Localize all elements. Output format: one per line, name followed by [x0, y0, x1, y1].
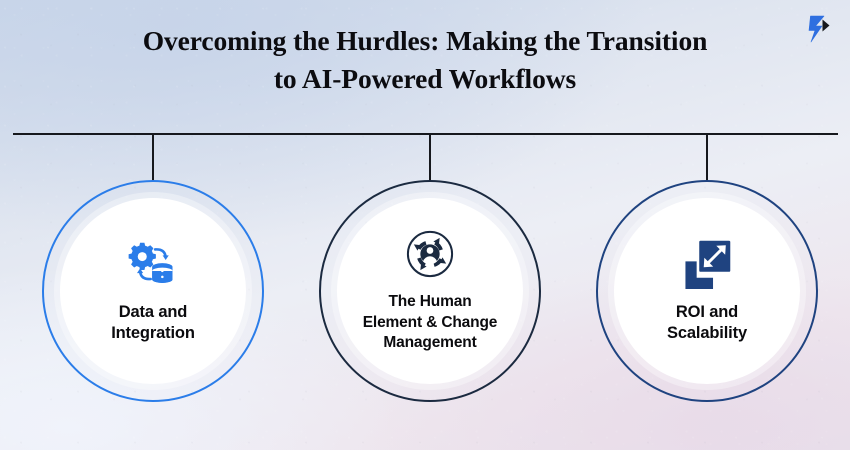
node-2-label-line-3: Management: [383, 334, 476, 351]
page-title: Overcoming the Hurdles: Making the Trans…: [0, 22, 850, 98]
connector-stem-2: [429, 133, 431, 181]
page-title-line-2: to AI-Powered Workflows: [60, 60, 790, 98]
connector-rail: [13, 133, 838, 135]
node-data-and-integration[interactable]: Data and Integration: [42, 180, 264, 402]
node-3-label-line-2: Scalability: [667, 324, 747, 342]
node-1-inner-disc: Data and Integration: [60, 198, 246, 384]
node-2-label-line-2: Element & Change: [363, 314, 498, 331]
node-2-label: The Human Element & Change Management: [346, 292, 514, 354]
infographic-canvas: Overcoming the Hurdles: Making the Trans…: [0, 0, 850, 450]
gear-database-sync-icon: [125, 238, 181, 290]
connector-stem-3: [706, 133, 708, 181]
node-roi-and-scalability[interactable]: ROI and Scalability: [596, 180, 818, 402]
node-1-label-line-2: Integration: [111, 324, 195, 342]
node-1-label-line-1: Data and: [119, 303, 187, 321]
expand-scale-icon: [679, 238, 735, 290]
node-2-label-line-1: The Human: [388, 293, 471, 310]
node-2-inner-disc: The Human Element & Change Management: [337, 198, 523, 384]
person-change-cycle-icon: [402, 228, 458, 280]
node-3-inner-disc: ROI and Scalability: [614, 198, 800, 384]
node-1-label: Data and Integration: [69, 302, 237, 344]
connector-stem-1: [152, 133, 154, 181]
lightning-chevron-logo-icon: [802, 12, 836, 46]
node-3-label: ROI and Scalability: [623, 302, 791, 344]
node-human-element-change-management[interactable]: The Human Element & Change Management: [319, 180, 541, 402]
node-3-label-line-1: ROI and: [676, 303, 738, 321]
page-title-line-1: Overcoming the Hurdles: Making the Trans…: [60, 22, 790, 60]
